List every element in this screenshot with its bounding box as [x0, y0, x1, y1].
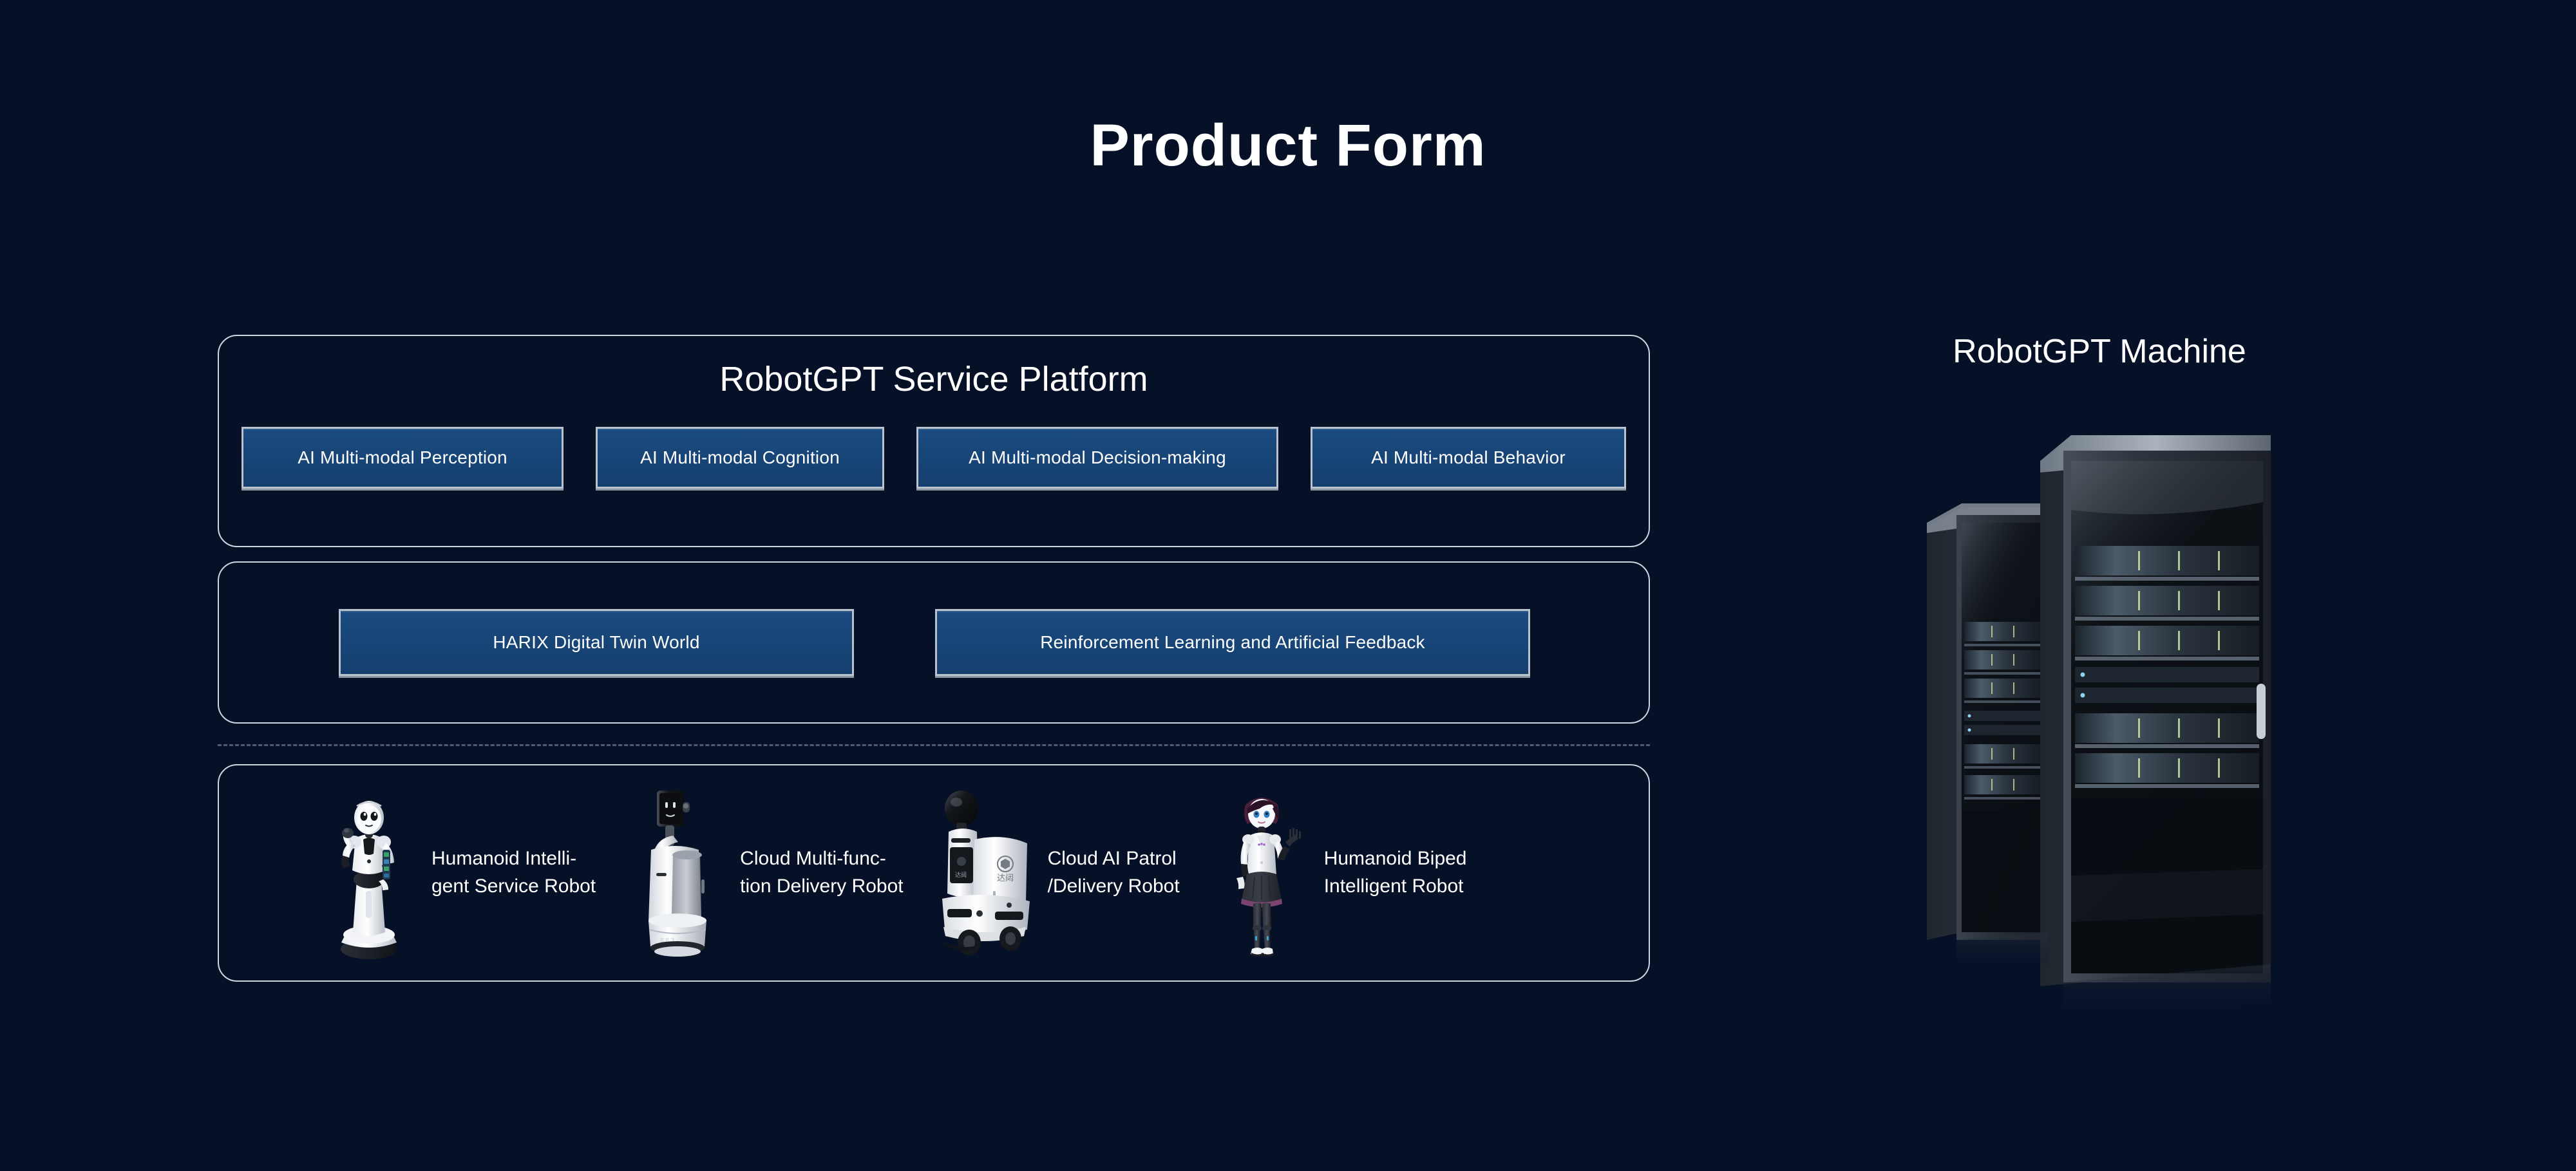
middle-layer-panel: HARIX Digital Twin World Reinforcement L… — [218, 561, 1650, 724]
robot-lineup-panel: Humanoid Intelli- gent Service Robot — [218, 764, 1650, 982]
cloud-delivery-robot-icon: 8 8 3 — [623, 783, 732, 963]
capability-chip-behavior-label: AI Multi-modal Behavior — [1371, 447, 1566, 468]
capability-chip-cognition-label: AI Multi-modal Cognition — [640, 447, 840, 468]
capability-chip-behavior[interactable]: AI Multi-modal Behavior — [1311, 427, 1626, 489]
robot-item-biped-humanoid-label: Humanoid Biped Intelligent Robot — [1324, 845, 1467, 900]
robot-item-biped-humanoid[interactable]: Humanoid Biped Intelligent Robot — [1207, 783, 1467, 963]
capability-chip-perception-label: AI Multi-modal Perception — [298, 447, 507, 468]
capability-chip-cognition[interactable]: AI Multi-modal Cognition — [596, 427, 884, 489]
platform-column: RobotGPT Service Platform AI Multi-modal… — [218, 335, 1650, 982]
robot-item-patrol-delivery[interactable]: 达闼 达闼 — [931, 783, 1180, 963]
service-platform-title: RobotGPT Service Platform — [219, 361, 1649, 398]
robot-item-cloud-delivery-label: Cloud Multi-func- tion Delivery Robot — [740, 845, 903, 900]
module-chip-harix-digital-twin-label: HARIX Digital Twin World — [493, 632, 699, 653]
section-divider — [218, 744, 1650, 746]
page-title: Product Form — [0, 116, 2576, 175]
capability-chip-decision-making-label: AI Multi-modal Decision-making — [969, 447, 1226, 468]
robot-item-humanoid-service-label: Humanoid Intelli- gent Service Robot — [431, 845, 596, 900]
machine-column: RobotGPT Machine — [1842, 335, 2357, 368]
svg-text:达闼: 达闼 — [997, 873, 1014, 883]
biped-humanoid-robot-icon — [1207, 783, 1316, 963]
service-platform-panel: RobotGPT Service Platform AI Multi-modal… — [218, 335, 1650, 547]
capability-chip-perception[interactable]: AI Multi-modal Perception — [241, 427, 563, 489]
svg-text:达闼: 达闼 — [955, 871, 967, 878]
module-chip-harix-digital-twin[interactable]: HARIX Digital Twin World — [339, 609, 854, 676]
robot-item-cloud-delivery[interactable]: 8 8 3 Cloud Multi-func- tion Delivery Ro… — [623, 783, 903, 963]
module-chip-reinforcement-learning[interactable]: Reinforcement Learning and Artificial Fe… — [935, 609, 1530, 676]
capability-chip-decision-making[interactable]: AI Multi-modal Decision-making — [916, 427, 1278, 489]
capability-chip-row: AI Multi-modal Perception AI Multi-modal… — [219, 427, 1649, 489]
robot-item-patrol-delivery-label: Cloud AI Patrol /Delivery Robot — [1048, 845, 1180, 900]
patrol-delivery-robot-icon: 达闼 达闼 — [931, 783, 1040, 963]
server-rack-icon — [1919, 425, 2280, 1030]
humanoid-service-robot-icon — [314, 783, 424, 963]
machine-title: RobotGPT Machine — [1842, 335, 2357, 368]
module-chip-reinforcement-learning-label: Reinforcement Learning and Artificial Fe… — [1040, 632, 1425, 653]
robot-item-humanoid-service[interactable]: Humanoid Intelli- gent Service Robot — [314, 783, 596, 963]
